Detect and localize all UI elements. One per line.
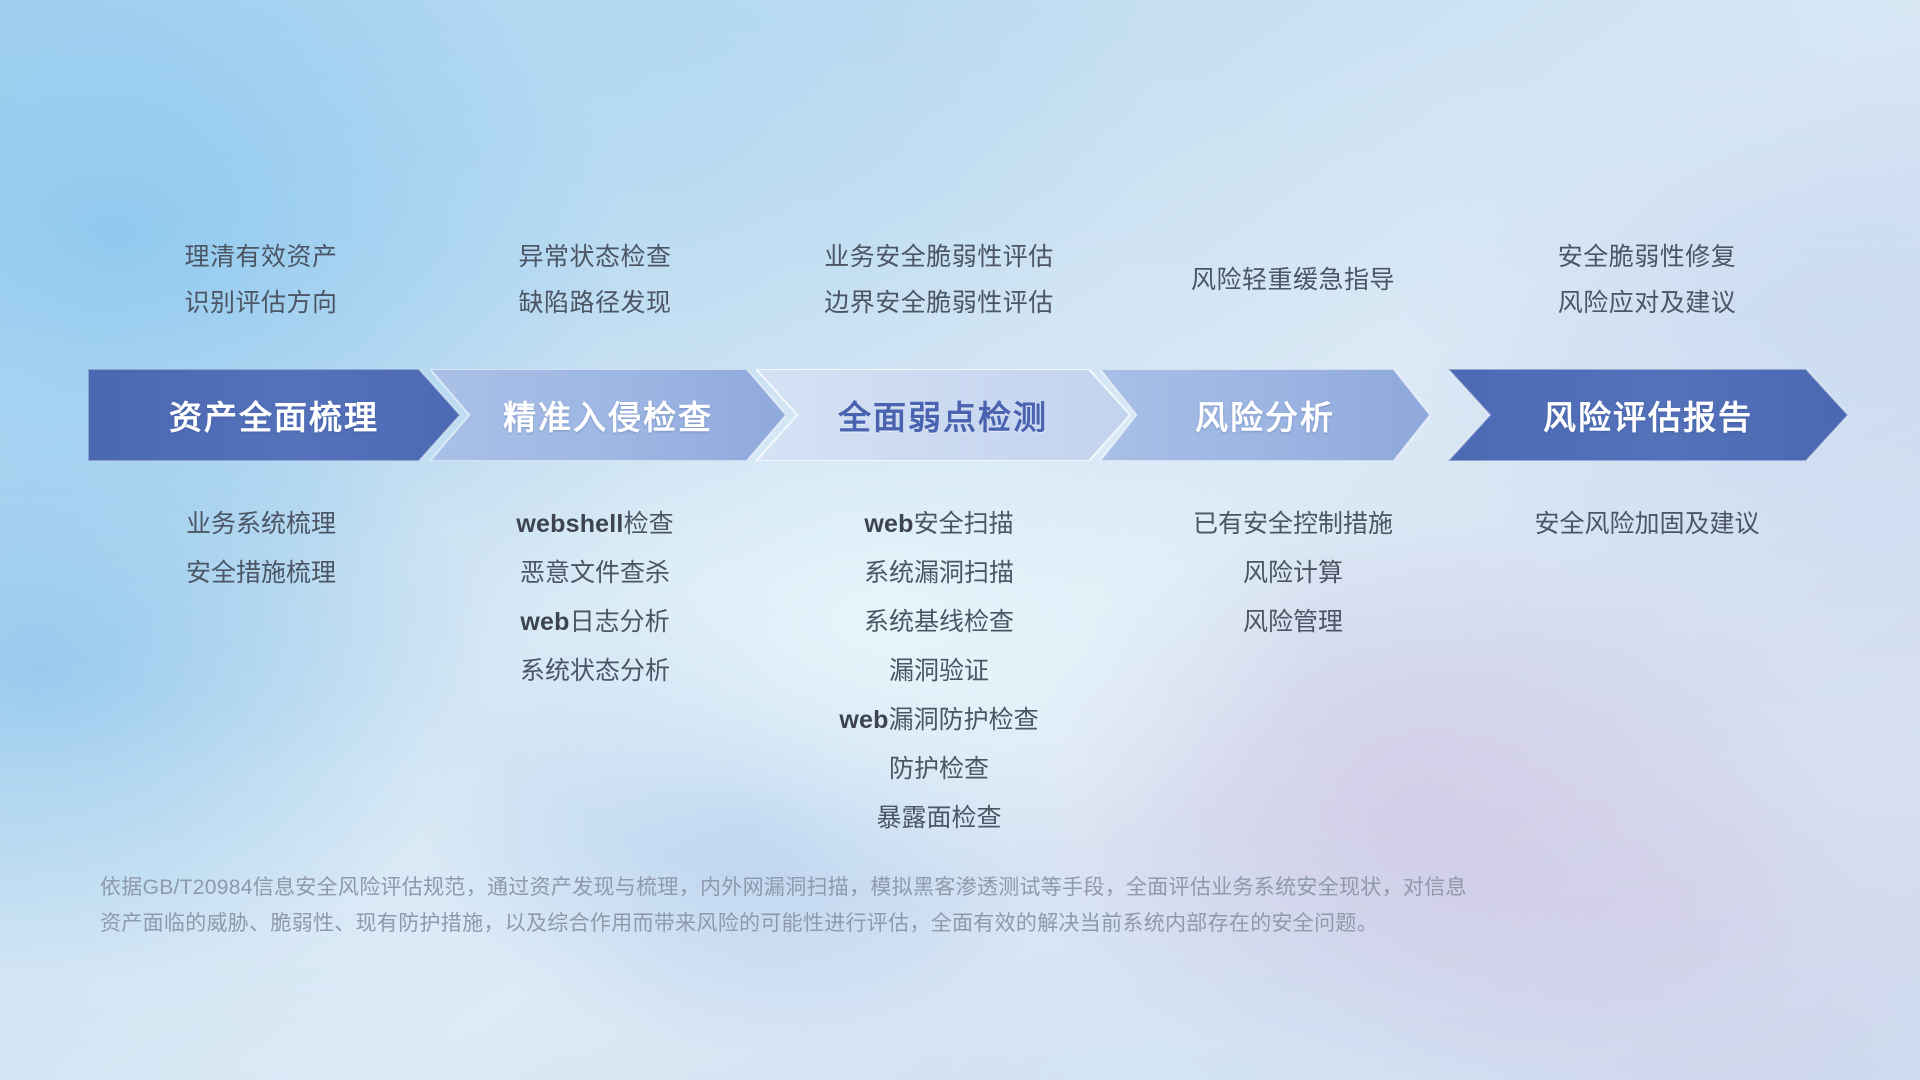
detail-list-item: web安全扫描 [864, 500, 1013, 549]
detail-list-item: 系统基线检查 [864, 598, 1014, 647]
detail-list-risk-analysis: 已有安全控制措施风险计算风险管理 [1118, 500, 1468, 647]
footer-line: 依据GB/T20984信息安全风险评估规范，通过资产发现与梳理，内外网漏洞扫描，… [100, 870, 1690, 906]
top-note-line: 识别评估方向 [184, 280, 337, 326]
chevron-stage-assessment-report[interactable]: 风险评估报告 [1448, 369, 1848, 461]
detail-list-item: 系统状态分析 [520, 647, 670, 696]
detail-list-item: 系统漏洞扫描 [864, 549, 1014, 598]
detail-list-weakness-detection: web安全扫描系统漏洞扫描系统基线检查漏洞验证web漏洞防护检查防护检查暴露面检… [764, 500, 1114, 843]
stage-chevron-band: 资产全面梳理 精准入侵检查 [88, 369, 1848, 461]
chevron-label: 全面弱点检测 [838, 391, 1048, 439]
top-note-line: 风险应对及建议 [1558, 280, 1737, 326]
top-notes-intrusion-check: 异常状态检查 缺陷路径发现 [430, 222, 760, 338]
top-notes-weakness-detection: 业务安全脆弱性评估 边界安全脆弱性评估 [764, 222, 1114, 338]
detail-list-assessment-report: 安全风险加固及建议 [1472, 500, 1822, 549]
top-note-line: 安全脆弱性修复 [1558, 234, 1737, 280]
detail-list-item: 已有安全控制措施 [1193, 500, 1393, 549]
top-note-line: 业务安全脆弱性评估 [824, 234, 1054, 280]
chevron-label: 资产全面梳理 [169, 391, 379, 439]
detail-list-item: 暴露面检查 [876, 794, 1001, 843]
detail-item-keyword: web [864, 510, 913, 538]
top-notes-risk-analysis: 风险轻重缓急指导 [1118, 222, 1468, 338]
chevron-label: 精准入侵检查 [503, 391, 713, 439]
detail-list-item: 防护检查 [889, 745, 989, 794]
detail-list-item: 风险计算 [1243, 549, 1343, 598]
detail-list-item: 风险管理 [1243, 598, 1343, 647]
top-note-line: 异常状态检查 [518, 234, 671, 280]
chevron-stage-asset-inventory[interactable]: 资产全面梳理 [88, 369, 460, 461]
chevron-stage-weakness-detection[interactable]: 全面弱点检测 [756, 369, 1130, 461]
detail-list-asset-inventory: 业务系统梳理安全措施梳理 [96, 500, 426, 598]
detail-list-item: 恶意文件查杀 [520, 549, 670, 598]
chevron-label: 风险分析 [1195, 391, 1335, 439]
process-diagram: 理清有效资产 识别评估方向 异常状态检查 缺陷路径发现 业务安全脆弱性评估 边界… [0, 0, 1920, 1080]
top-note-line: 缺陷路径发现 [518, 280, 671, 326]
top-note-line: 理清有效资产 [184, 234, 337, 280]
detail-list-item: 安全风险加固及建议 [1534, 500, 1759, 549]
top-note-line: 边界安全脆弱性评估 [824, 280, 1054, 326]
detail-list-item: 漏洞验证 [889, 647, 989, 696]
footer-line: 资产面临的威胁、脆弱性、现有防护措施，以及综合作用而带来风险的可能性进行评估，全… [100, 906, 1690, 942]
detail-item-keyword: web [520, 608, 569, 636]
detail-item-keyword: webshell [516, 510, 623, 538]
detail-list-item: 安全措施梳理 [186, 549, 336, 598]
detail-list-item: web漏洞防护检查 [839, 696, 1038, 745]
chevron-stage-intrusion-check[interactable]: 精准入侵检查 [430, 369, 786, 461]
top-notes-asset-inventory: 理清有效资产 识别评估方向 [96, 222, 426, 338]
detail-item-keyword: web [839, 706, 888, 734]
detail-list-intrusion-check: webshell检查恶意文件查杀web日志分析系统状态分析 [430, 500, 760, 696]
top-notes-assessment-report: 安全脆弱性修复 风险应对及建议 [1472, 222, 1822, 338]
detail-list-item: 业务系统梳理 [186, 500, 336, 549]
detail-list-item: web日志分析 [520, 598, 669, 647]
chevron-stage-risk-analysis[interactable]: 风险分析 [1100, 369, 1430, 461]
detail-list-item: webshell检查 [516, 500, 673, 549]
footer-description: 依据GB/T20984信息安全风险评估规范，通过资产发现与梳理，内外网漏洞扫描，… [100, 870, 1690, 942]
chevron-label: 风险评估报告 [1543, 391, 1753, 439]
top-note-line: 风险轻重缓急指导 [1191, 257, 1395, 303]
